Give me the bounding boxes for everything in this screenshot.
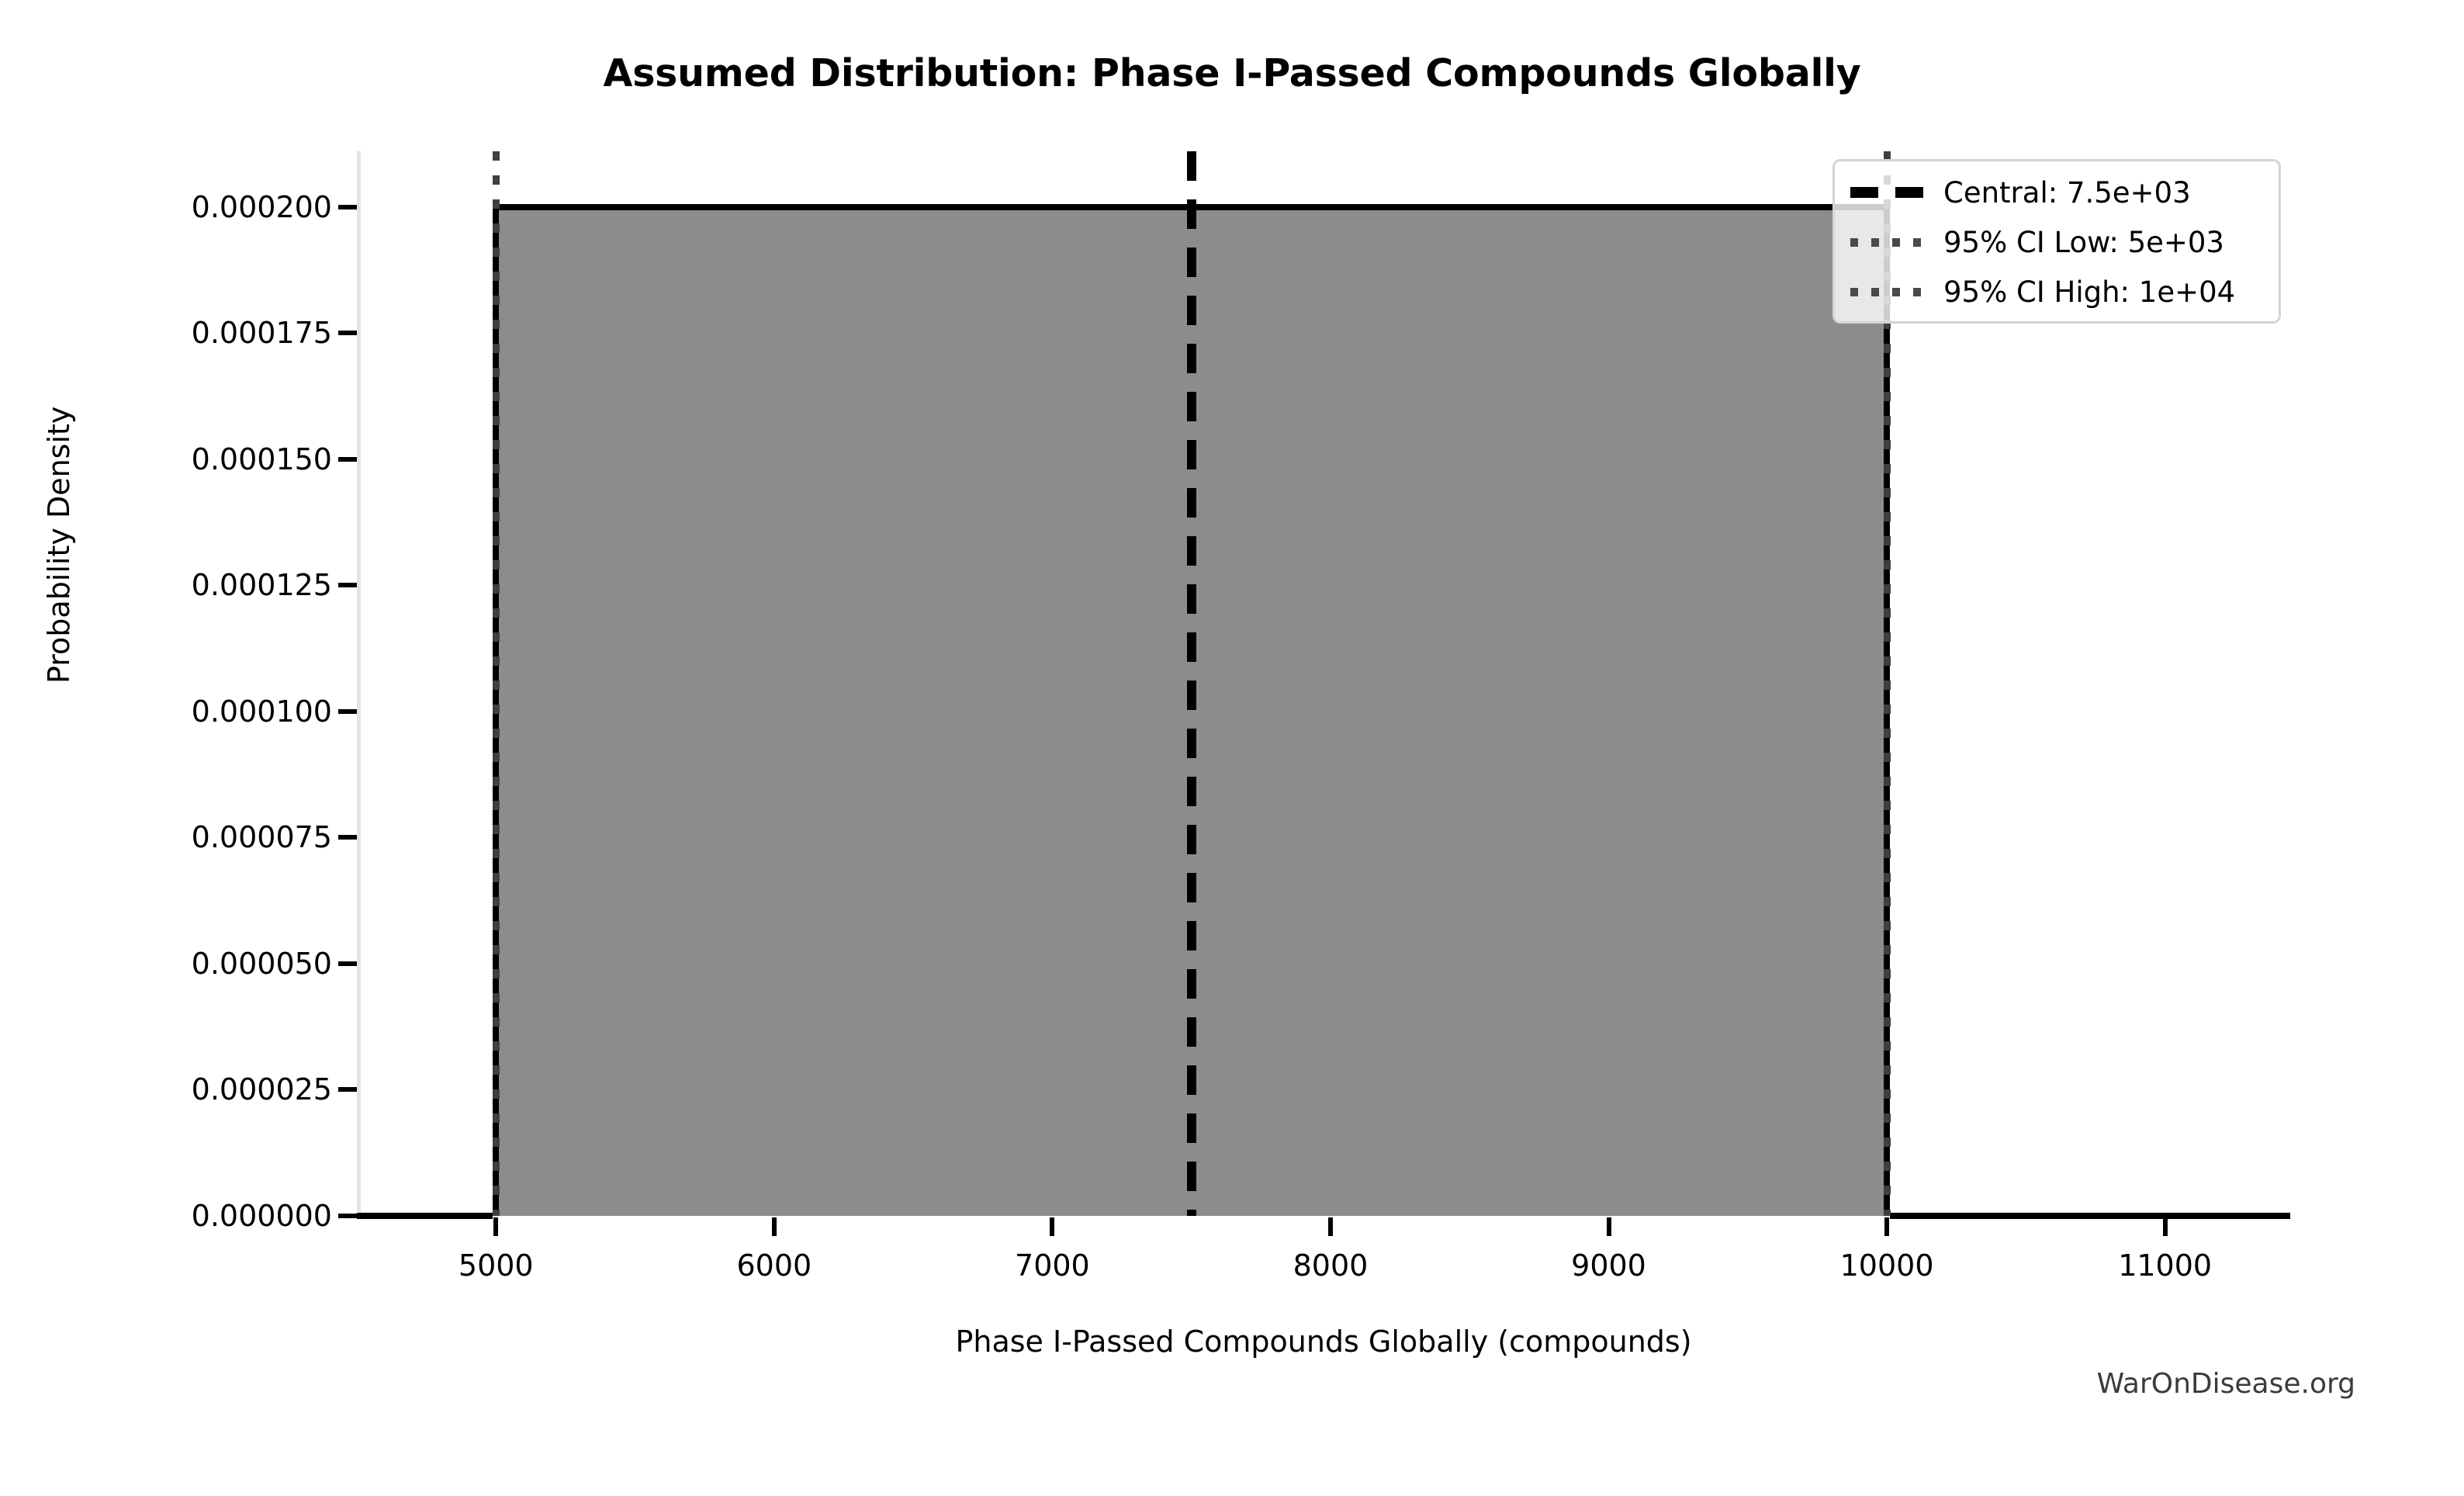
x-tick-label: 11000 xyxy=(2118,1248,2212,1283)
legend-item-ci-high: 95% CI High: 1e+04 xyxy=(1835,267,2279,317)
legend-item-label: 95% CI Low: 5e+03 xyxy=(1943,228,2224,257)
x-tick-label: 8000 xyxy=(1293,1248,1369,1283)
dashed-line-icon xyxy=(1850,187,1931,198)
chart-figure: Assumed Distribution: Phase I-Passed Com… xyxy=(0,0,2464,1496)
distribution-baseline-right xyxy=(1890,1213,2290,1219)
x-tick-mark xyxy=(772,1217,777,1236)
y-tick-mark xyxy=(338,835,357,840)
x-tick-label: 6000 xyxy=(736,1248,812,1283)
y-tick-label: 0.000000 xyxy=(192,1199,332,1233)
y-axis-spine xyxy=(357,151,361,1216)
x-tick-mark xyxy=(1607,1217,1611,1236)
y-tick-mark xyxy=(338,457,357,462)
dotted-line-icon xyxy=(1850,288,1931,296)
x-tick-mark xyxy=(1884,1217,1889,1236)
legend-item-central: Central: 7.5e+03 xyxy=(1835,168,2279,217)
central-marker-line xyxy=(1187,151,1196,1216)
y-tick-label: 0.000175 xyxy=(192,316,332,350)
x-tick-label: 9000 xyxy=(1571,1248,1646,1283)
chart-title: Assumed Distribution: Phase I-Passed Com… xyxy=(0,51,2464,95)
y-tick-mark xyxy=(338,709,357,714)
y-tick-label: 0.000125 xyxy=(192,568,332,602)
legend-item-label: 95% CI High: 1e+04 xyxy=(1943,278,2235,306)
y-tick-label: 0.000150 xyxy=(192,442,332,476)
x-tick-mark xyxy=(1328,1217,1333,1236)
y-tick-label: 0.000050 xyxy=(192,947,332,981)
x-tick-mark xyxy=(493,1217,498,1236)
x-tick-mark xyxy=(1050,1217,1054,1236)
y-tick-label: 0.000200 xyxy=(192,190,332,224)
chart-legend: Central: 7.5e+03 95% CI Low: 5e+03 95% C… xyxy=(1832,159,2281,324)
distribution-baseline-left xyxy=(357,1213,493,1219)
y-tick-mark xyxy=(338,1087,357,1092)
y-tick-mark xyxy=(338,961,357,966)
x-tick-label: 5000 xyxy=(459,1248,534,1283)
x-tick-label: 7000 xyxy=(1015,1248,1090,1283)
y-tick-mark xyxy=(338,205,357,210)
x-tick-label: 10000 xyxy=(1840,1248,1934,1283)
y-tick-label: 0.000100 xyxy=(192,694,332,729)
x-tick-mark xyxy=(2163,1217,2168,1236)
x-axis-label: Phase I-Passed Compounds Globally (compo… xyxy=(357,1325,2290,1359)
legend-item-ci-low: 95% CI Low: 5e+03 xyxy=(1835,217,2279,267)
y-tick-mark xyxy=(338,331,357,335)
legend-item-label: Central: 7.5e+03 xyxy=(1943,178,2191,207)
y-tick-label: 0.000075 xyxy=(192,820,332,854)
y-tick-mark xyxy=(338,583,357,587)
y-axis-label: Probability Density xyxy=(42,407,76,684)
watermark: WarOnDisease.org xyxy=(2097,1368,2355,1400)
dotted-line-icon xyxy=(1850,238,1931,247)
ci-low-marker-line xyxy=(493,151,500,1216)
y-tick-mark xyxy=(338,1214,357,1218)
y-tick-label: 0.000025 xyxy=(192,1072,332,1106)
